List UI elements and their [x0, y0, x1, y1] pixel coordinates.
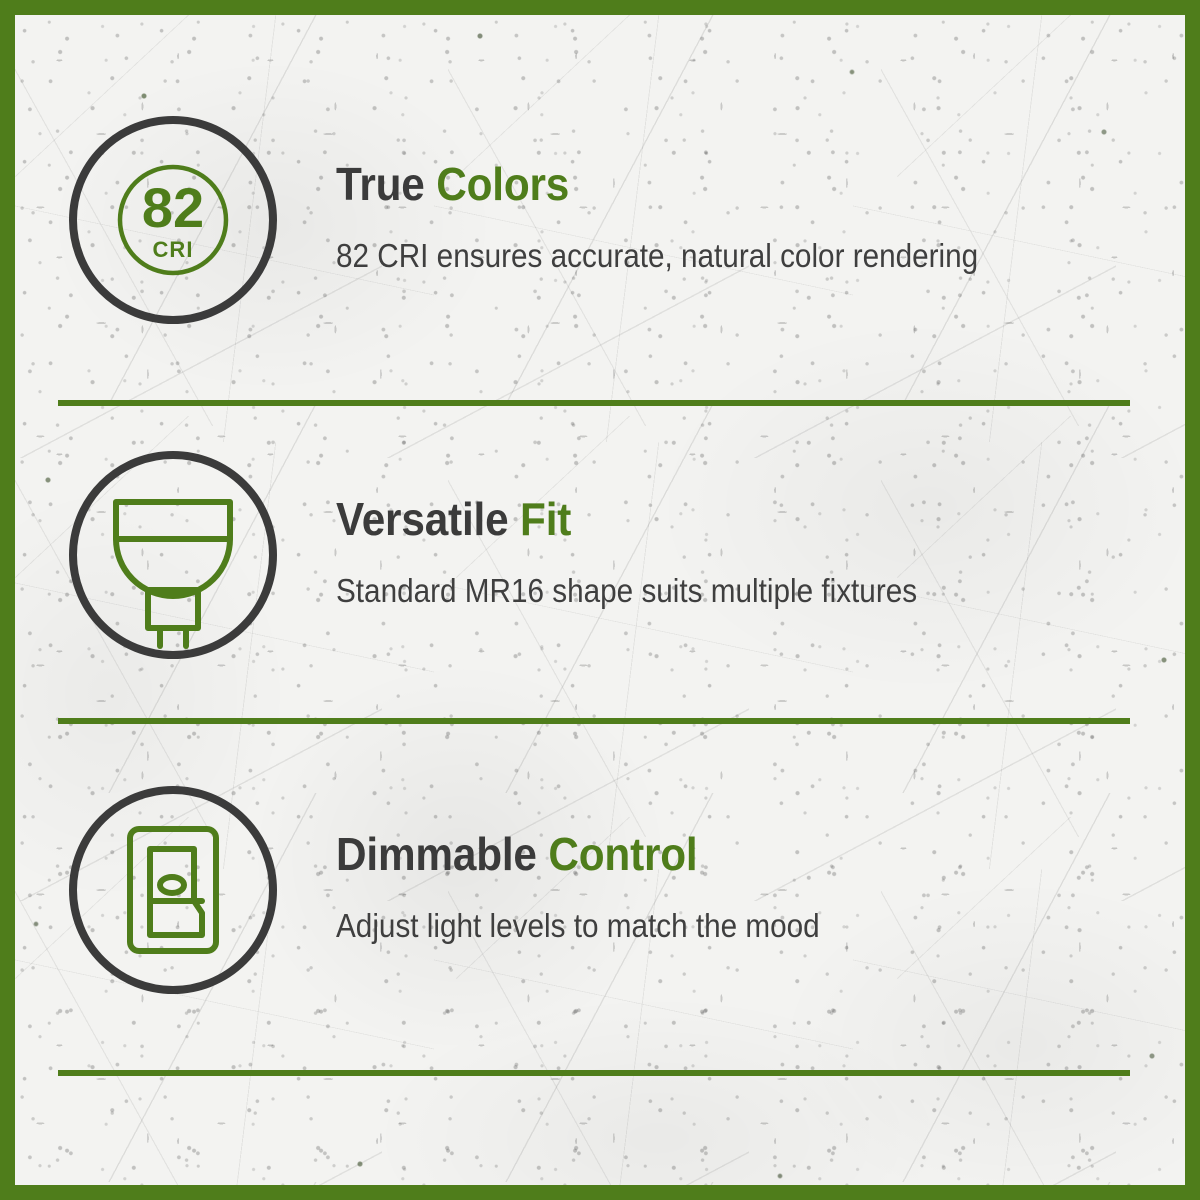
section-divider — [58, 400, 1130, 406]
cri-caption-text: CRI — [153, 237, 194, 262]
mr16-bulb-icon — [68, 450, 278, 660]
feature-row-true-colors: 82 CRI True Colors 82 CRI ensures accura… — [0, 115, 1170, 325]
feature-title: Versatile Fit — [336, 496, 1103, 543]
feature-title: True Colors — [336, 161, 1103, 208]
feature-text-block: Versatile Fit Standard MR16 shape suits … — [336, 496, 1170, 615]
feature-text-block: True Colors 82 CRI ensures accurate, nat… — [336, 161, 1170, 280]
cri-value-text: 82 — [142, 176, 204, 239]
section-divider — [58, 718, 1130, 724]
feature-row-dimmable-control: Dimmable Control Adjust light levels to … — [0, 785, 1170, 995]
feature-row-versatile-fit: Versatile Fit Standard MR16 shape suits … — [0, 450, 1170, 660]
cri-badge-icon: 82 CRI — [68, 115, 278, 325]
feature-title-accent: Colors — [436, 158, 569, 210]
feature-title: Dimmable Control — [336, 831, 1103, 878]
feature-title-main: Dimmable — [336, 828, 548, 880]
dimmer-switch-icon — [68, 785, 278, 995]
feature-poster: 82 CRI True Colors 82 CRI ensures accura… — [0, 0, 1200, 1200]
feature-subtitle: 82 CRI ensures accurate, natural color r… — [336, 238, 1087, 274]
feature-title-main: Versatile — [336, 493, 520, 545]
feature-title-accent: Fit — [520, 493, 571, 545]
section-divider — [58, 1070, 1130, 1076]
feature-title-accent: Control — [548, 828, 697, 880]
feature-text-block: Dimmable Control Adjust light levels to … — [336, 831, 1170, 950]
feature-subtitle: Adjust light levels to match the mood — [336, 908, 1087, 944]
feature-title-main: True — [336, 158, 436, 210]
feature-subtitle: Standard MR16 shape suits multiple fixtu… — [336, 573, 1087, 609]
